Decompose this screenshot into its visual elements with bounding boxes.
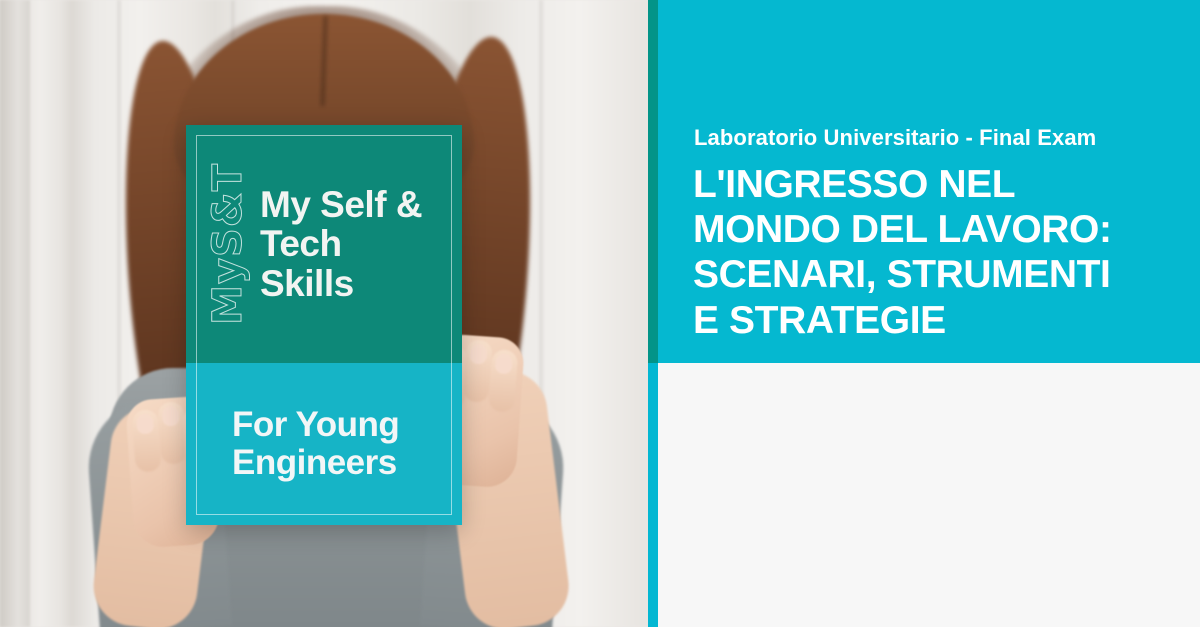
held-poster-bottom: For Young Engineers: [186, 363, 462, 525]
event-poster: MyS&T My Self & Tech Skills For Young En…: [0, 0, 1200, 627]
fingernail: [161, 405, 179, 426]
door-frame: [0, 0, 30, 627]
held-poster-subtitle: For Young Engineers: [208, 406, 444, 483]
page-title: L'INGRESSO NEL MONDO DEL LAVORO: SCENARI…: [693, 162, 1112, 343]
details-panel: 3 OTTOBRE 2019 9.00 - 13.00 Oracle, via …: [658, 363, 1200, 627]
eyebrow-label: Laboratorio Universitario - Final Exam: [694, 125, 1096, 151]
divider-stripe-top: [648, 0, 658, 363]
divider-stripe-bottom: [648, 363, 658, 627]
fingernail: [136, 413, 154, 434]
held-poster-top: MyS&T My Self & Tech Skills: [186, 125, 462, 363]
held-poster: MyS&T My Self & Tech Skills For Young En…: [186, 125, 462, 525]
headline-panel: Laboratorio Universitario - Final Exam L…: [658, 0, 1200, 363]
photo-panel: MyS&T My Self & Tech Skills For Young En…: [0, 0, 648, 627]
myst-monogram: MyS&T: [208, 163, 248, 325]
held-poster-title: My Self & Tech Skills: [260, 185, 444, 303]
